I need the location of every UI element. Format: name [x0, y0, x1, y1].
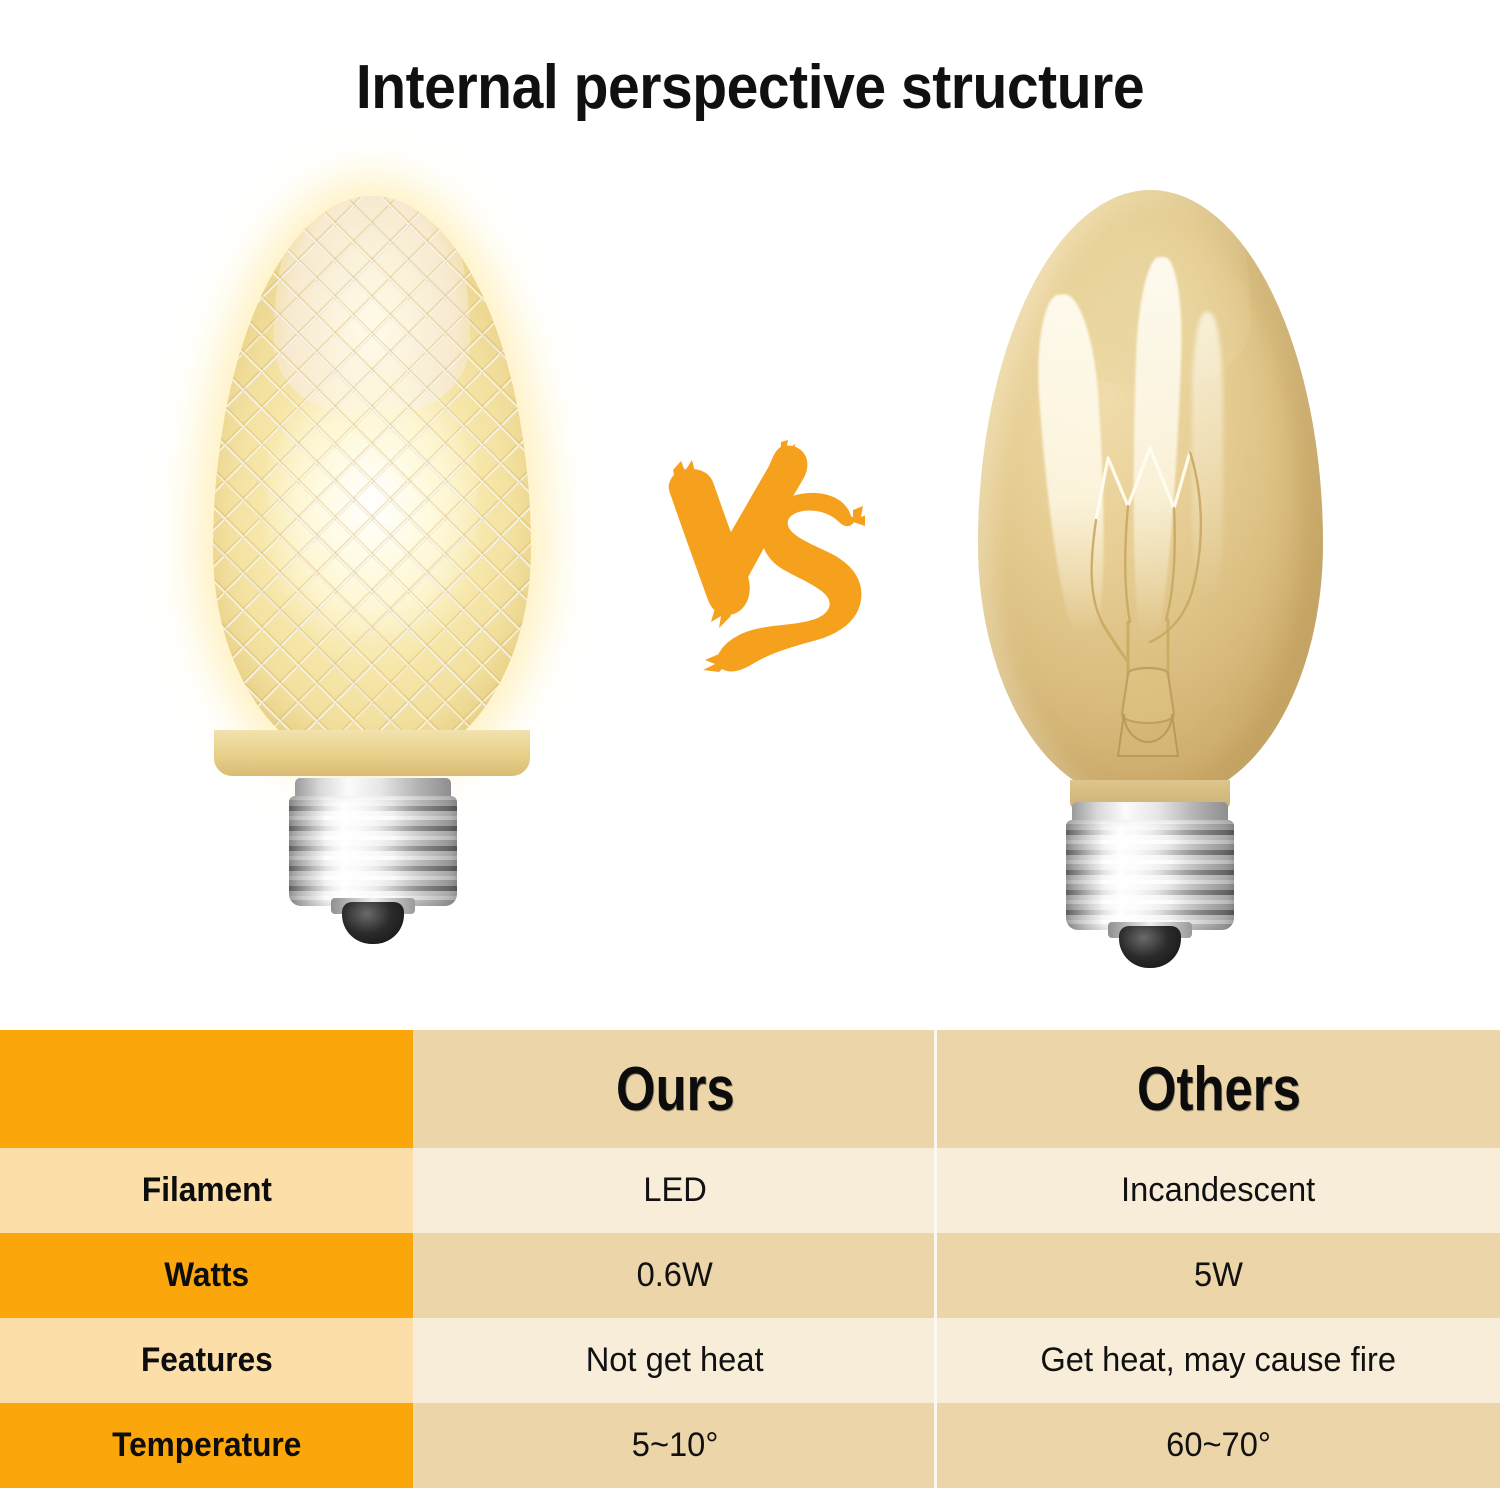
led-bulb-glass	[213, 196, 531, 766]
row-label: Filament	[141, 1171, 271, 1210]
row-others-value: 60~70°	[1166, 1426, 1271, 1465]
table-row: Watts 0.6W 5W	[0, 1233, 1500, 1318]
comparison-table: Ours Others Filament LED Incandescent Wa…	[0, 1030, 1500, 1500]
row-label-cell: Features	[0, 1318, 413, 1403]
versus-icon	[655, 440, 865, 680]
product-comparison-infographic: Internal perspective structure	[0, 0, 1500, 1500]
hero-comparison	[0, 170, 1500, 1020]
header-label-others: Others	[1137, 1054, 1301, 1125]
row-label: Temperature	[112, 1426, 301, 1465]
inc-base-threads	[1066, 820, 1234, 930]
row-others-value: 5W	[1194, 1256, 1243, 1295]
row-label-cell: Filament	[0, 1148, 413, 1233]
row-label: Watts	[164, 1256, 249, 1295]
led-bulb-image	[188, 190, 558, 990]
row-ours-value: LED	[643, 1171, 706, 1210]
table-header-ours: Ours	[413, 1030, 937, 1148]
row-others-cell: 60~70°	[937, 1403, 1500, 1488]
led-base-threads	[289, 796, 457, 906]
table-header-corner-cell	[0, 1030, 413, 1148]
row-label-cell: Temperature	[0, 1403, 413, 1488]
led-screw-base	[289, 778, 457, 938]
led-base-tip	[342, 902, 404, 944]
inc-base-tip	[1119, 926, 1181, 968]
row-ours-cell: 5~10°	[413, 1403, 937, 1488]
table-header-others: Others	[937, 1030, 1500, 1148]
row-others-value: Incandescent	[1121, 1171, 1315, 1210]
row-ours-value: Not get heat	[586, 1341, 764, 1380]
tungsten-filament-icon	[978, 190, 1323, 800]
incandescent-screw-base	[1066, 802, 1234, 962]
led-facet-shading	[213, 196, 531, 766]
row-others-value: Get heat, may cause fire	[1041, 1341, 1397, 1380]
table-row: Features Not get heat Get heat, may caus…	[0, 1318, 1500, 1403]
row-ours-value: 5~10°	[632, 1426, 719, 1465]
incandescent-bulb-glass	[978, 190, 1323, 800]
row-others-cell: 5W	[937, 1233, 1500, 1318]
row-label-cell: Watts	[0, 1233, 413, 1318]
row-label: Features	[141, 1341, 273, 1380]
row-others-cell: Incandescent	[937, 1148, 1500, 1233]
row-ours-cell: LED	[413, 1148, 937, 1233]
led-bulb-neck	[214, 730, 530, 776]
row-ours-value: 0.6W	[637, 1256, 713, 1295]
table-row: Temperature 5~10° 60~70°	[0, 1403, 1500, 1488]
header-label-ours: Ours	[616, 1054, 735, 1125]
row-ours-cell: 0.6W	[413, 1233, 937, 1318]
table-header-row: Ours Others	[0, 1030, 1500, 1148]
incandescent-bulb-image	[960, 180, 1340, 990]
table-row: Filament LED Incandescent	[0, 1148, 1500, 1233]
page-title: Internal perspective structure	[60, 52, 1440, 123]
row-ours-cell: Not get heat	[413, 1318, 937, 1403]
row-others-cell: Get heat, may cause fire	[937, 1318, 1500, 1403]
